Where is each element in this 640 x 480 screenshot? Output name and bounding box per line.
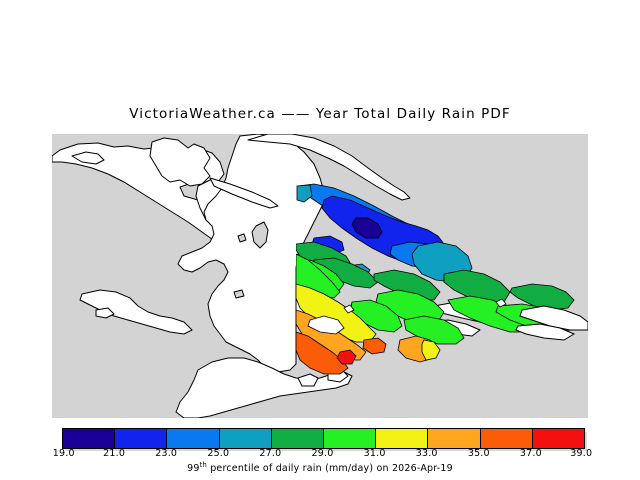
caption-text: percentile of daily rain (mm/day) on 202… — [207, 463, 453, 474]
colorbar-bands[interactable] — [62, 428, 585, 449]
colorbar-tick-23.0: 23.0 — [155, 448, 177, 459]
colorbar-band-27.0-29.0[interactable] — [272, 429, 324, 448]
colorbar-band-31.0-33.0[interactable] — [376, 429, 428, 448]
map-panel[interactable] — [52, 134, 588, 418]
colorbar-tick-31.0: 31.0 — [364, 448, 386, 459]
colorbar-band-25.0-27.0[interactable] — [220, 429, 272, 448]
colorbar-band-21.0-23.0[interactable] — [115, 429, 167, 448]
colorbar-tick-19.0: 19.0 — [53, 448, 75, 459]
land-inner-lake-c — [234, 290, 244, 298]
colorbar-tick-39.0: 39.0 — [570, 448, 592, 459]
colorbar-band-29.0-31.0[interactable] — [324, 429, 376, 448]
colorbar-tick-27.0: 27.0 — [259, 448, 281, 459]
colorbar-band-37.0-39.0[interactable] — [533, 429, 584, 448]
colorbar-band-33.0-35.0[interactable] — [428, 429, 480, 448]
colorbar-caption: 99th percentile of daily rain (mm/day) o… — [0, 461, 640, 474]
map-canvas[interactable] — [52, 134, 588, 418]
colorbar[interactable]: 19.021.023.025.027.029.031.033.035.037.0… — [0, 424, 640, 480]
colorbar-band-35.0-37.0[interactable] — [481, 429, 533, 448]
colorbar-tick-29.0: 29.0 — [312, 448, 334, 459]
page-title: VictoriaWeather.ca —— Year Total Daily R… — [0, 106, 640, 122]
weather-map-page: VictoriaWeather.ca —— Year Total Daily R… — [0, 0, 640, 480]
colorbar-tick-37.0: 37.0 — [520, 448, 542, 459]
caption-percentile-number: 99 — [187, 463, 200, 474]
colorbar-band-19.0-21.0[interactable] — [63, 429, 115, 448]
colorbar-band-23.0-25.0[interactable] — [167, 429, 219, 448]
caption-ordinal-suffix: th — [200, 461, 207, 469]
colorbar-tick-35.0: 35.0 — [468, 448, 490, 459]
colorbar-tick-labels: 19.021.023.025.027.029.031.033.035.037.0… — [62, 448, 585, 461]
colorbar-tick-25.0: 25.0 — [207, 448, 229, 459]
land-inner-lake-b — [238, 234, 246, 242]
colorbar-tick-33.0: 33.0 — [416, 448, 438, 459]
colorbar-tick-21.0: 21.0 — [103, 448, 125, 459]
